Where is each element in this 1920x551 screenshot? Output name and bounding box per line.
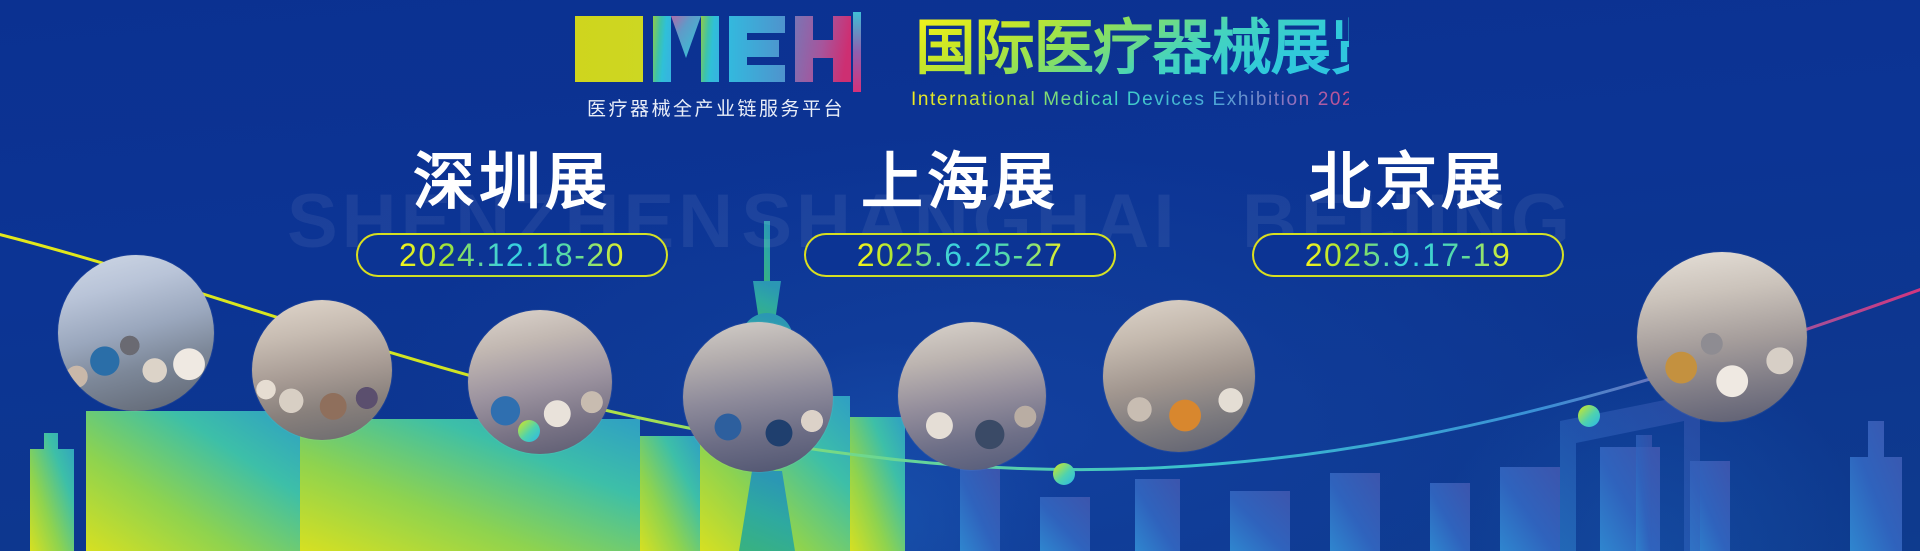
date-badge-beijing[interactable]: 2025.9.17-19: [1252, 233, 1564, 277]
title-chinese: 国际医疗器械展览会: [909, 14, 1349, 82]
photo-circle-3: [468, 310, 612, 454]
cmeh-logo[interactable]: 医疗器械全产业链服务平台: [571, 8, 861, 121]
connector-dot-3: [1578, 405, 1600, 427]
date-text-shenzhen: 2024.12.18-20: [399, 239, 625, 271]
svg-text:International Medical Devices: International Medical Devices Exhibition…: [911, 89, 1349, 110]
city-shanghai[interactable]: SHANGHAI 上海展 2025.6.25-27: [765, 150, 1155, 277]
photo-circle-5: [898, 322, 1046, 470]
svg-text:国际医疗器械展览会: 国际医疗器械展览会: [915, 14, 1349, 81]
date-text-shanghai: 2025.6.25-27: [857, 239, 1064, 271]
photo-circle-2: [252, 300, 392, 440]
connector-dot-2: [1053, 463, 1075, 485]
title-block: 国际医疗器械展览会 International Medical Devices …: [909, 8, 1349, 112]
photo-circle-6: [1103, 300, 1255, 452]
exhibition-banner: 医疗器械全产业链服务平台 国际医疗器械展览会: [0, 0, 1920, 551]
title-english: International Medical Devices Exhibition…: [909, 86, 1349, 112]
photo-circle-1: [58, 255, 214, 411]
city-shenzhen[interactable]: SHENZHEN 深圳展 2024.12.18-20: [317, 150, 707, 277]
date-badge-shanghai[interactable]: 2025.6.25-27: [804, 233, 1116, 277]
city-list: SHENZHEN 深圳展 2024.12.18-20 SHANGHAI 上海展 …: [0, 150, 1920, 277]
photo-circle-7: [1637, 252, 1807, 422]
city-beijing[interactable]: BEIJING 北京展 2025.9.17-19: [1213, 150, 1603, 277]
photo-circle-4: [683, 322, 833, 472]
cmeh-logo-mark: [571, 12, 861, 92]
connector-dot-1: [518, 420, 540, 442]
header: 医疗器械全产业链服务平台 国际医疗器械展览会: [0, 8, 1920, 121]
date-badge-shenzhen[interactable]: 2024.12.18-20: [356, 233, 668, 277]
city-name-beijing: 北京展: [1213, 150, 1603, 217]
logo-tagline: 医疗器械全产业链服务平台: [571, 94, 861, 121]
city-name-shenzhen: 深圳展: [317, 150, 707, 217]
date-text-beijing: 2025.9.17-19: [1305, 239, 1512, 271]
city-name-shanghai: 上海展: [765, 150, 1155, 217]
